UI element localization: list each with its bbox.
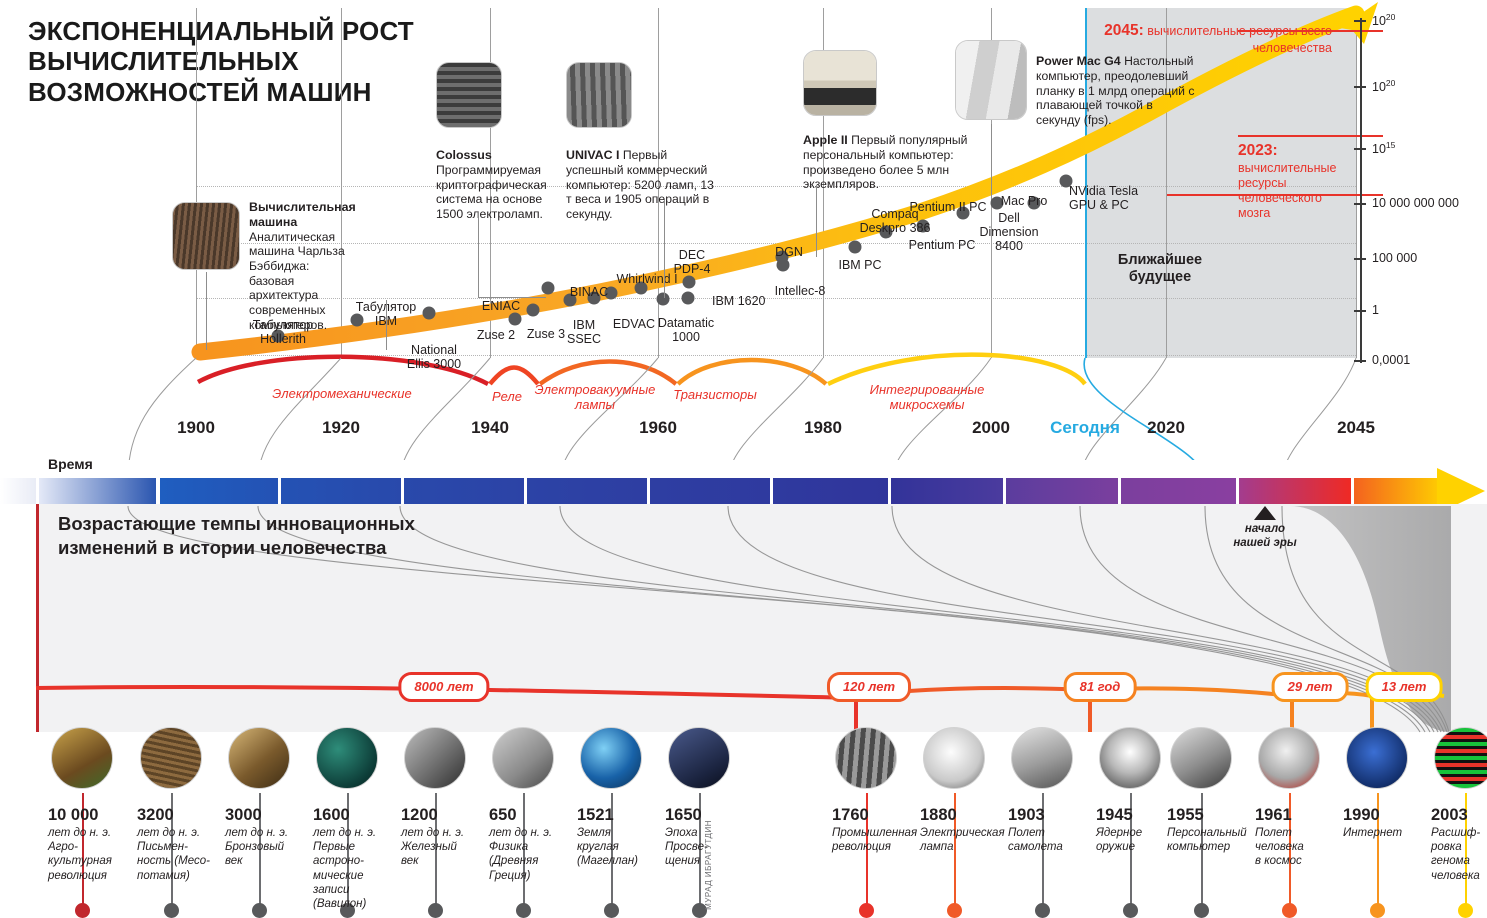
event-dot <box>604 903 619 918</box>
event-text: 1600лет до н. э. Первые астроно- мически… <box>313 807 399 912</box>
callout-analytical-engine: Вычислительная машина Аналитическая маши… <box>249 200 349 332</box>
callout-title: Colossus <box>436 148 492 162</box>
event-description: Интернет <box>1343 826 1429 840</box>
y-axis-label: 0,0001 <box>1372 353 1410 367</box>
event-text: 3200лет до н. э. Письмен- ность (Месо- п… <box>137 807 223 883</box>
y-axis-label: 10 000 000 000 <box>1372 196 1459 210</box>
x-axis-year-1920: 1920 <box>322 418 360 438</box>
gap-badge: 120 лет <box>827 672 911 702</box>
data-point-label: IBM 1620 <box>712 294 766 308</box>
event-year: 650 <box>489 807 575 824</box>
event-year: 2003 <box>1431 807 1487 824</box>
threshold-year: 2045: <box>1104 22 1144 39</box>
leader-whirlwind <box>664 200 665 298</box>
event-description: лет до н. э. Агро- культурная революция <box>48 826 134 884</box>
astronomy-globe-icon <box>316 727 378 789</box>
era-arc-transistors <box>678 360 826 384</box>
y-axis-tick <box>1354 310 1366 312</box>
event-dot <box>947 903 962 918</box>
leader-analytical-engine <box>206 272 207 350</box>
event-text: 10 000лет до н. э. Агро- культурная рево… <box>48 807 134 883</box>
data-point-label: BINAC <box>570 285 608 299</box>
data-point-label: Pentium II PC <box>909 200 986 214</box>
nuclear-explosion-icon <box>1099 727 1161 789</box>
data-point-dot <box>683 276 696 289</box>
data-point-dot <box>657 293 670 306</box>
thumbnail-colossus <box>436 62 502 128</box>
gap-badge: 29 лет <box>1272 672 1349 702</box>
event-text: 1961Полет человека в космос <box>1255 807 1341 869</box>
event-dot <box>1282 903 1297 918</box>
event-year: 1955 <box>1167 807 1253 824</box>
greek-philosopher-icon <box>492 727 554 789</box>
event-text: 3000лет до н. э. Бронзовый век <box>225 807 311 869</box>
y-axis-tick <box>1354 360 1366 362</box>
data-point-label: DEC PDP-4 <box>674 248 711 276</box>
y-axis-tick <box>1354 20 1366 22</box>
x-axis-year-1960: 1960 <box>639 418 677 438</box>
infographic-root: ЭКСПОНЕНЦИАЛЬНЫЙ РОСТ ВЫЧИСЛИТЕЛЬНЫХ ВОЗ… <box>0 0 1487 917</box>
event-text: 1990Интернет <box>1343 807 1429 840</box>
data-point-label: NVidia Tesla GPU & PC <box>1069 184 1138 212</box>
y-axis-label: 1020 <box>1372 12 1395 28</box>
data-point-label: Zuse 3 <box>527 327 565 341</box>
y-axis-tick <box>1354 148 1366 150</box>
leader-power-mac-g4 <box>991 124 992 204</box>
data-point-label: Intellec-8 <box>775 284 826 298</box>
data-point-label: DGN <box>775 245 803 259</box>
genome-icon <box>1434 727 1487 789</box>
internet-network-icon <box>1346 727 1408 789</box>
leader-ibm-tabulator <box>386 300 387 350</box>
thumbnail-univac <box>566 62 632 128</box>
callout-title: UNIVAC I <box>566 148 619 162</box>
event-text: 2003Расшиф- ровка генома человека <box>1431 807 1487 883</box>
agriculture-icon <box>51 727 113 789</box>
data-point-label: ENIAC <box>482 299 520 313</box>
event-description: лет до н. э. Физика (Древняя Греция) <box>489 826 575 884</box>
event-description: лет до н. э. Бронзовый век <box>225 826 311 869</box>
event-dot <box>1458 903 1473 918</box>
event-dot <box>1194 903 1209 918</box>
event-text: 1200лет до н. э. Железный век <box>401 807 487 869</box>
events-layer: 10 000лет до н. э. Агро- культурная рево… <box>0 727 1487 917</box>
callout-univac: UNIVAC I Первый успешный коммерческий ко… <box>566 148 718 221</box>
x-axis-year-1900: 1900 <box>177 418 215 438</box>
data-point-label: Табулятор Hollerith <box>253 318 313 346</box>
x-axis-year-1980: 1980 <box>804 418 842 438</box>
x-axis-year-2045: 2045 <box>1337 418 1375 438</box>
data-point-label: National Ellis 3000 <box>407 343 461 371</box>
event-year: 1903 <box>1008 807 1094 824</box>
data-point-dot <box>509 313 522 326</box>
vline-1900 <box>196 8 197 358</box>
steam-engine-icon <box>835 727 897 789</box>
data-point-label: Mac Pro <box>1001 194 1048 208</box>
event-text: 1521Земля круглая (Магеллан) <box>577 807 663 869</box>
event-description: лет до н. э. Первые астроно- мические за… <box>313 826 399 912</box>
page-title: ЭКСПОНЕНЦИАЛЬНЫЙ РОСТ ВЫЧИСЛИТЕЛЬНЫХ ВОЗ… <box>28 16 468 107</box>
gridline-1 <box>196 186 1356 187</box>
threshold-year: 2023: <box>1238 142 1278 159</box>
title-line-1: ЭКСПОНЕНЦИАЛЬНЫЙ РОСТ <box>28 16 468 46</box>
data-point-dot <box>423 307 436 320</box>
timeline-title: Возрастающие темпы инновационных изменен… <box>58 512 478 559</box>
x-axis-year-2020: 2020 <box>1147 418 1185 438</box>
leader-colossus <box>478 212 479 298</box>
thumbnail-analytical-engine <box>172 202 240 270</box>
callout-apple2: Apple II Первый популярный персональный … <box>803 133 985 192</box>
credit-text: МУРАД ИБРАГУТДИН <box>704 820 713 910</box>
event-year: 1600 <box>313 807 399 824</box>
data-point-label: Dell Dimension 8400 <box>979 211 1038 253</box>
earth-globe-icon <box>580 727 642 789</box>
data-point-label: Datamatic 1000 <box>658 316 714 344</box>
callout-title: Вычислительная машина <box>249 200 356 229</box>
data-point-label: Whirlwind I <box>616 272 677 286</box>
data-point-dot <box>542 282 555 295</box>
axis-connector-today <box>1084 358 1205 460</box>
gap-badge: 13 лет <box>1366 672 1443 702</box>
event-text: 1903Полет самолета <box>1008 807 1094 854</box>
era-label: Реле <box>492 390 522 405</box>
callout-body: Программируемая криптографическая систем… <box>436 163 547 221</box>
era-arc-vacuum-tubes <box>540 362 676 385</box>
y-axis-label: 1 <box>1372 303 1379 317</box>
event-description: лет до н. э. Железный век <box>401 826 487 869</box>
thumbnail-power-mac-g4 <box>955 40 1027 120</box>
data-point-label: IBM SSEC <box>567 318 601 346</box>
event-text: 650лет до н. э. Физика (Древняя Греция) <box>489 807 575 883</box>
data-point-label: Zuse 2 <box>477 328 515 342</box>
threshold-text: вычислительные ресурсы человеческого моз… <box>1238 161 1336 220</box>
event-description: Персональный компьютер <box>1167 826 1253 855</box>
event-description: Электрическая лампа <box>920 826 1006 855</box>
event-year: 3200 <box>137 807 223 824</box>
cuneiform-tablet-icon <box>140 727 202 789</box>
callout-power-mac-g4: Power Mac G4 Настольный компьютер, преод… <box>1036 54 1196 127</box>
event-dot <box>75 903 90 918</box>
event-year: 1521 <box>577 807 663 824</box>
event-description: Земля круглая (Магеллан) <box>577 826 663 869</box>
era-label: Транзисторы <box>673 388 757 403</box>
airplane-icon <box>1011 727 1073 789</box>
event-text: 1880Электрическая лампа <box>920 807 1006 854</box>
data-point-dot <box>682 292 695 305</box>
data-point-dot <box>849 241 862 254</box>
gap-badge: 8000 лет <box>398 672 489 702</box>
event-description: лет до н. э. Письмен- ность (Месо- потам… <box>137 826 223 884</box>
threshold-label-2045: 2045: вычислительные ресурсы всего челов… <box>1100 22 1332 56</box>
event-description: Промышленная революция <box>832 826 918 855</box>
event-year: 1200 <box>401 807 487 824</box>
title-line-3: ВОЗМОЖНОСТЕЙ МАШИН <box>28 77 468 107</box>
event-year: 10 000 <box>48 807 134 824</box>
leader-colossus-h <box>478 297 546 298</box>
leader-apple2 <box>816 185 817 257</box>
common-era-label: начало нашей эры <box>1205 523 1325 551</box>
computer-icon <box>1170 727 1232 789</box>
event-dot <box>1035 903 1050 918</box>
y-axis: 10201020101510 000 000 000100 00010,0001 <box>1360 8 1487 378</box>
y-axis-label: 1015 <box>1372 140 1395 156</box>
event-description: Полет самолета <box>1008 826 1094 855</box>
gridline-3 <box>196 298 1356 299</box>
y-axis-tick <box>1354 258 1366 260</box>
callout-title: Apple II <box>803 133 848 147</box>
enlightenment-icon <box>668 727 730 789</box>
threshold-text: вычислительные ресурсы всего человечеств… <box>1147 24 1332 55</box>
era-label: Электровакуумные лампы <box>535 383 656 413</box>
event-text: 1955Персональный компьютер <box>1167 807 1253 854</box>
event-dot <box>428 903 443 918</box>
cosmonaut-icon <box>1258 727 1320 789</box>
event-dot <box>1123 903 1138 918</box>
event-dot <box>252 903 267 918</box>
title-line-2: ВЫЧИСЛИТЕЛЬНЫХ <box>28 46 468 76</box>
iron-age-icon <box>404 727 466 789</box>
data-point-label: IBM PC <box>838 258 881 272</box>
event-year: 1760 <box>832 807 918 824</box>
data-point-label: EDVAC <box>613 317 655 331</box>
bronze-age-icon <box>228 727 290 789</box>
threshold-label-2023: 2023: вычислительные ресурсы человеческо… <box>1238 142 1356 221</box>
era-arc-relay <box>490 368 538 385</box>
event-year: 1961 <box>1255 807 1341 824</box>
x-axis-year-2000: 2000 <box>972 418 1010 438</box>
era-label: Интегрированные микросхемы <box>870 383 985 413</box>
x-axis-year-1940: 1940 <box>471 418 509 438</box>
common-era-marker: начало нашей эры <box>1205 506 1325 551</box>
gap-badge: 81 год <box>1064 672 1137 702</box>
event-dot <box>516 903 531 918</box>
data-point-label: Pentium PC <box>909 238 976 252</box>
x-axis-year-сегодня: Сегодня <box>1050 418 1120 438</box>
data-point-dot <box>527 304 540 317</box>
light-bulb-icon <box>923 727 985 789</box>
event-year: 1990 <box>1343 807 1429 824</box>
callout-title: Power Mac G4 <box>1036 54 1121 68</box>
thumbnail-apple2 <box>803 50 877 116</box>
y-axis-tick <box>1354 203 1366 205</box>
gridline-4 <box>196 355 1356 356</box>
callout-colossus: Colossus Программируемая криптографическ… <box>436 148 551 221</box>
event-description: Полет человека в космос <box>1255 826 1341 869</box>
axis-connector-curves <box>128 358 1356 460</box>
gridline-2 <box>196 243 1356 244</box>
y-axis-tick <box>1354 86 1366 88</box>
event-year: 3000 <box>225 807 311 824</box>
callout-body: Аналитическая машина Чарльза Бэббиджа: б… <box>249 230 345 332</box>
event-text: 1760Промышленная революция <box>832 807 918 854</box>
event-description: Расшиф- ровка генома человека <box>1431 826 1487 884</box>
y-axis-label: 100 000 <box>1372 251 1417 265</box>
vline-2045 <box>1356 8 1357 358</box>
y-axis-label: 1020 <box>1372 78 1395 94</box>
event-dot <box>164 903 179 918</box>
future-zone-label: Ближайшее будущее <box>1070 252 1250 287</box>
event-dot <box>859 903 874 918</box>
triangle-marker-icon <box>1254 506 1276 520</box>
event-year: 1880 <box>920 807 1006 824</box>
era-arc-microchips <box>828 355 1085 384</box>
era-label: Электромеханические <box>272 387 411 402</box>
event-dot <box>1370 903 1385 918</box>
